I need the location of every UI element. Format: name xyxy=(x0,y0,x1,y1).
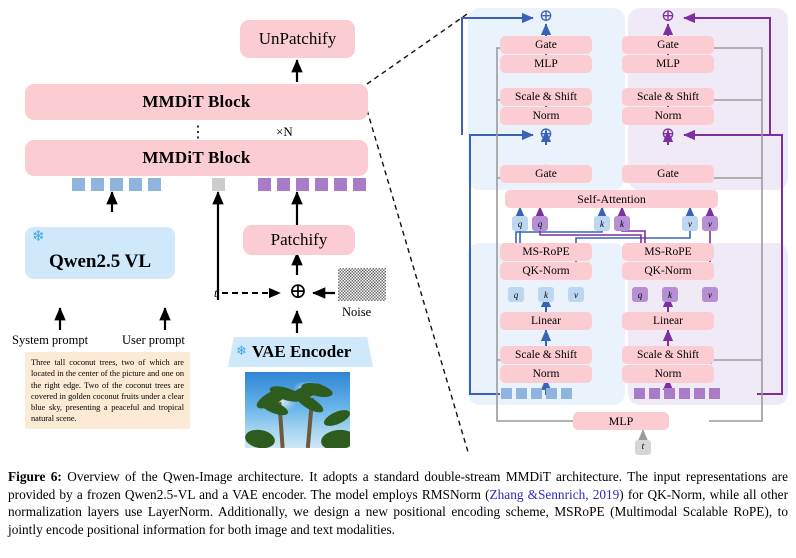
image-token xyxy=(277,178,290,191)
image-token xyxy=(296,178,309,191)
image-gate-bottom[interactable]: Gate xyxy=(622,165,714,183)
image-token xyxy=(709,388,720,399)
figure-number: Figure 6: xyxy=(8,469,62,484)
text-norm-top[interactable]: Norm xyxy=(500,107,592,125)
image-norm-bottom[interactable]: Norm xyxy=(622,365,714,383)
timestep-token xyxy=(212,178,225,191)
vae-encoder-block[interactable]: ❄ VAE Encoder xyxy=(228,337,373,367)
image-qk-norm[interactable]: QK-Norm xyxy=(622,262,714,280)
image-token xyxy=(694,388,705,399)
repeat-count-label: ×N xyxy=(276,124,293,140)
mmdit-block-top[interactable]: MMDiT Block xyxy=(25,84,368,120)
residual-add-text-top: ⊕ xyxy=(536,6,556,26)
image-k-token: k xyxy=(662,287,678,302)
input-image-thumbnail xyxy=(245,372,350,448)
image-token xyxy=(334,178,347,191)
image-token xyxy=(664,388,675,399)
image-ms-rope[interactable]: MS-RoPE xyxy=(622,243,714,261)
image-token xyxy=(649,388,660,399)
citation-link[interactable]: Zhang &Sennrich, 2019 xyxy=(490,487,620,502)
image-q-token: q xyxy=(632,287,648,302)
image-norm-top[interactable]: Norm xyxy=(622,107,714,125)
qwen-vl-label: Qwen2.5 VL xyxy=(25,251,175,273)
image-gate-top[interactable]: Gate xyxy=(622,36,714,54)
image-token xyxy=(258,178,271,191)
mmdit-block-bottom[interactable]: MMDiT Block xyxy=(25,140,368,176)
figure-image: UnPatchify MMDiT Block ⋮ ×N MMDiT Block … xyxy=(0,0,796,462)
vae-encoder-label: VAE Encoder xyxy=(252,342,351,362)
system-prompt-label: System prompt xyxy=(12,333,88,348)
text-token xyxy=(91,178,104,191)
text-norm-bottom[interactable]: Norm xyxy=(500,365,592,383)
image-scale-shift-bottom[interactable]: Scale & Shift xyxy=(622,346,714,364)
text-q-token: q xyxy=(508,287,524,302)
attn-q-text-token: q xyxy=(512,216,528,231)
text-scale-shift-top[interactable]: Scale & Shift xyxy=(500,88,592,106)
noise-patch-icon xyxy=(338,268,386,301)
user-prompt-label: User prompt xyxy=(122,333,185,348)
text-token xyxy=(546,388,557,399)
timestep-token-box: t xyxy=(635,440,651,455)
text-v-token: v xyxy=(568,287,584,302)
image-mlp[interactable]: MLP xyxy=(622,55,714,73)
image-linear[interactable]: Linear xyxy=(622,312,714,330)
self-attention-block[interactable]: Self-Attention xyxy=(505,190,718,208)
text-mlp[interactable]: MLP xyxy=(500,55,592,73)
text-linear[interactable]: Linear xyxy=(500,312,592,330)
attn-q-image-token: q xyxy=(532,216,548,231)
figure-caption: Figure 6: Overview of the Qwen-Image arc… xyxy=(8,468,788,539)
residual-add-text-mid: ⊕ xyxy=(536,124,556,144)
text-token xyxy=(516,388,527,399)
text-token xyxy=(72,178,85,191)
attn-k-text-token: k xyxy=(594,216,610,231)
prompt-text-box[interactable]: Three tall coconut trees, two of which a… xyxy=(25,352,190,429)
merge-plus-icon: ⊕ xyxy=(286,280,310,304)
noise-label: Noise xyxy=(342,305,371,320)
unpatchify-block[interactable]: UnPatchify xyxy=(240,20,355,58)
text-token xyxy=(501,388,512,399)
text-k-token: k xyxy=(538,287,554,302)
text-scale-shift-bottom[interactable]: Scale & Shift xyxy=(500,346,592,364)
text-gate-bottom[interactable]: Gate xyxy=(500,165,592,183)
text-qk-norm[interactable]: QK-Norm xyxy=(500,262,592,280)
conditioning-mlp[interactable]: MLP xyxy=(573,412,669,430)
snowflake-icon: ❄ xyxy=(32,230,45,245)
text-gate-top[interactable]: Gate xyxy=(500,36,592,54)
attn-v-image-token: v xyxy=(702,216,718,231)
residual-add-image-mid: ⊕ xyxy=(658,124,678,144)
image-token xyxy=(353,178,366,191)
attn-k-image-token: k xyxy=(614,216,630,231)
image-token xyxy=(679,388,690,399)
qwen-vl-block[interactable]: ❄ Qwen2.5 VL xyxy=(25,227,175,279)
attn-v-text-token: v xyxy=(682,216,698,231)
timestep-label: t xyxy=(214,286,217,301)
text-token xyxy=(148,178,161,191)
residual-add-image-top: ⊕ xyxy=(658,6,678,26)
image-token xyxy=(315,178,328,191)
text-token xyxy=(110,178,123,191)
text-token xyxy=(531,388,542,399)
image-v-token: v xyxy=(702,287,718,302)
snowflake-icon: ❄ xyxy=(236,344,247,357)
text-token xyxy=(129,178,142,191)
text-token xyxy=(561,388,572,399)
patchify-block[interactable]: Patchify xyxy=(243,225,355,255)
image-token xyxy=(634,388,645,399)
text-ms-rope[interactable]: MS-RoPE xyxy=(500,243,592,261)
image-scale-shift-top[interactable]: Scale & Shift xyxy=(622,88,714,106)
